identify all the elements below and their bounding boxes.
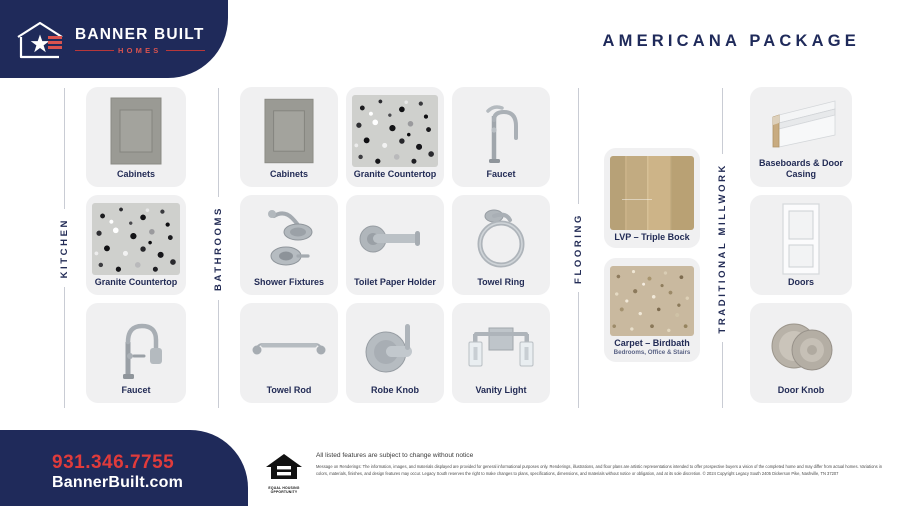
section-rule-top [218,88,219,197]
bath-faucet-icon [457,95,545,167]
towel-ring-icon [457,203,545,275]
banner-built-house-icon [14,20,66,62]
card-towel-ring[interactable]: Towel Ring [452,195,550,295]
card-caption: Towel Rod [267,383,312,396]
carpet-swatch [609,266,695,336]
card-bath-faucet[interactable]: Faucet [452,87,550,187]
card-caption: Toilet Paper Holder [354,275,436,288]
eho-line-2: OPPORTUNITY [262,491,306,495]
card-kitchen-cabinets[interactable]: Cabinets [86,87,186,187]
section-label-flooring: FLOORING [566,88,590,408]
section-flooring: FLOORING LVP – Triple Bock Carpet – Bird… [560,80,708,430]
page-header: BANNER BUILT HOMES AMERICANA PACKAGE [0,0,900,80]
equal-housing-opportunity-logo: EQUAL HOUSING OPPORTUNITY [262,452,306,495]
card-doors[interactable]: Doors [750,195,852,295]
card-lvp-flooring[interactable]: LVP – Triple Bock [604,148,700,248]
section-label-kitchen: KITCHEN [52,88,76,408]
door-knob-icon [755,311,847,383]
section-label-text: FLOORING [573,204,584,293]
section-label-text: TRADITIONAL MILLWORK [717,154,728,343]
section-bathrooms: BATHROOMS Cabinets Granite Countertop [196,80,552,430]
package-board: KITCHEN Cabinets Granite Countertop [0,80,900,430]
card-towel-rod[interactable]: Towel Rod [240,303,338,403]
card-caption: Baseboards & Door Casing [755,156,847,181]
robe-knob-icon [351,311,439,383]
shower-head-icon [245,203,333,275]
card-bath-cabinets[interactable]: Cabinets [240,87,338,187]
card-subcaption: Bedrooms, Office & Stairs [614,349,691,356]
section-label-text: BATHROOMS [213,197,224,300]
flooring-card-list: LVP – Triple Bock Carpet – Birdbath Bedr… [604,148,700,362]
section-rule-top [722,88,723,154]
legal-note: All listed features are subject to chang… [316,452,473,459]
card-caption: Robe Knob [371,383,419,396]
card-caption: Door Knob [778,383,825,396]
section-rule-bottom [64,287,65,408]
interior-door-icon [755,203,847,275]
card-baseboards-door-casing[interactable]: Baseboards & Door Casing [750,87,852,187]
toilet-paper-holder-icon [351,203,439,275]
logo-title: BANNER BUILT [75,27,205,43]
cabinet-door-swatch [245,95,333,167]
section-rule-top [578,88,579,204]
card-caption: Doors [788,275,814,288]
card-caption: Cabinets [270,167,308,180]
section-label-millwork: TRADITIONAL MILLWORK [710,88,734,408]
millwork-card-list: Baseboards & Door Casing Doors [750,87,852,403]
section-traditional-millwork: TRADITIONAL MILLWORK Baseboards & Door C… [706,80,882,430]
section-label-text: KITCHEN [59,209,70,287]
kitchen-card-list: Cabinets Granite Countertop [86,87,186,403]
card-vanity-light[interactable]: Vanity Light [452,303,550,403]
card-door-knob[interactable]: Door Knob [750,303,852,403]
granite-swatch [91,203,181,275]
section-rule-bottom [218,300,219,409]
cabinet-door-swatch [91,95,181,167]
section-rule-bottom [722,342,723,408]
lvp-swatch [609,156,695,230]
logo-subtitle: HOMES [118,46,162,55]
phone-number[interactable]: 931.346.7755 [52,452,174,474]
card-robe-knob[interactable]: Robe Knob [346,303,444,403]
card-caption: Vanity Light [475,383,526,396]
kitchen-faucet-icon [91,311,181,383]
card-kitchen-granite[interactable]: Granite Countertop [86,195,186,295]
bathrooms-card-grid: Cabinets Granite Countertop [240,87,552,403]
card-caption: Cabinets [117,167,155,180]
page-title: AMERICANA PACKAGE [603,32,860,51]
section-rule-top [64,88,65,209]
card-caption: Granite Countertop [95,275,178,288]
section-rule-bottom [578,292,579,408]
card-shower-fixtures[interactable]: Shower Fixtures [240,195,338,295]
card-toilet-paper-holder[interactable]: Toilet Paper Holder [346,195,444,295]
card-bath-granite[interactable]: Granite Countertop [346,87,444,187]
card-caption: Carpet – Birdbath [614,336,690,349]
towel-rod-icon [245,311,333,383]
legal-disclaimer: Message on Renderings: The information, … [316,464,888,477]
section-label-bathrooms: BATHROOMS [206,88,230,408]
card-caption: LVP – Triple Bock [614,230,689,243]
card-caption: Faucet [486,167,515,180]
baseboard-molding-icon [755,95,847,156]
card-kitchen-faucet[interactable]: Faucet [86,303,186,403]
card-caption: Granite Countertop [354,167,437,180]
card-caption: Towel Ring [477,275,524,288]
equal-housing-icon [264,452,304,482]
website-link[interactable]: BannerBuilt.com [52,474,183,492]
card-caption: Shower Fixtures [254,275,324,288]
logo-rule-left [75,50,114,51]
granite-swatch [351,95,439,167]
card-carpet-flooring[interactable]: Carpet – Birdbath Bedrooms, Office & Sta… [604,258,700,362]
card-caption: Faucet [121,383,150,396]
logo-rule-right [166,50,205,51]
brand-logo[interactable]: BANNER BUILT HOMES [14,20,205,62]
vanity-light-icon [457,311,545,383]
